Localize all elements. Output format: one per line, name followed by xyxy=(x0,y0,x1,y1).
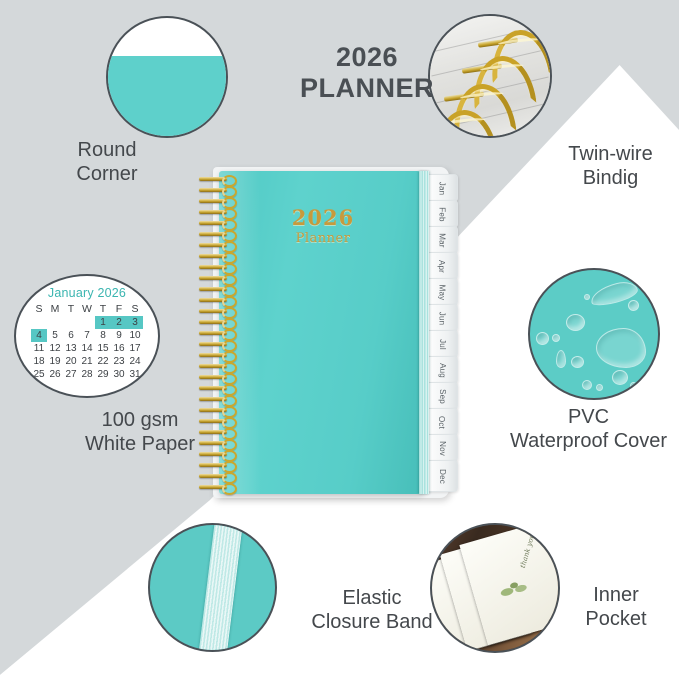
month-tab[interactable]: Mar xyxy=(427,226,458,254)
title-year: 2026 xyxy=(272,42,462,73)
month-tab[interactable]: Apr xyxy=(427,252,458,280)
month-tab-label: Mar xyxy=(437,233,446,247)
calendar-day[interactable]: 7 xyxy=(79,329,95,342)
water-droplet xyxy=(571,356,584,368)
month-tab[interactable]: Dec xyxy=(427,460,458,492)
month-tab-label: Feb xyxy=(437,207,446,221)
calendar-day[interactable]: 2 xyxy=(111,316,127,329)
spiral-coil xyxy=(199,374,235,381)
month-tab-label: Nov xyxy=(437,441,446,456)
calendar-day[interactable]: 22 xyxy=(95,355,111,368)
month-tab[interactable]: Jul xyxy=(427,330,458,358)
calendar-widget: January 2026 S M T W T F S xyxy=(16,286,158,381)
month-tab-label: Sep xyxy=(438,389,447,404)
spiral-coil xyxy=(199,341,235,348)
spiral-coil xyxy=(199,253,235,260)
spiral-coil xyxy=(199,330,235,337)
calendar-day[interactable]: 30 xyxy=(111,368,127,381)
month-tab[interactable]: Feb xyxy=(427,200,458,228)
calendar-month-title: January 2026 xyxy=(16,286,158,300)
spiral-coil xyxy=(199,319,235,326)
calendar-weekday: T xyxy=(95,303,111,316)
calendar-day[interactable]: 14 xyxy=(79,342,95,355)
month-tab-label: Oct xyxy=(437,415,446,428)
calendar-day[interactable]: 28 xyxy=(79,368,95,381)
calendar-day[interactable]: 31 xyxy=(127,368,143,381)
callout-round-corner xyxy=(106,16,228,138)
calendar-day[interactable]: 3 xyxy=(127,316,143,329)
calendar-weekday: W xyxy=(79,303,95,316)
calendar-day[interactable]: 8 xyxy=(95,329,111,342)
water-droplet xyxy=(584,294,590,300)
caption-pvc-waterproof: PVC Waterproof Cover xyxy=(498,405,679,453)
calendar-day[interactable]: 13 xyxy=(63,342,79,355)
calendar-week-row: 18 19 20 21 22 23 24 xyxy=(31,355,143,368)
spiral-coil xyxy=(199,176,235,183)
month-tab[interactable]: Aug xyxy=(427,356,458,384)
calendar-day[interactable]: 29 xyxy=(95,368,111,381)
caption-white-paper: 100 gsm White Paper xyxy=(42,408,238,456)
month-tab-label: Apr xyxy=(438,259,447,272)
calendar-day[interactable]: 11 xyxy=(31,342,47,355)
calendar-day[interactable]: 15 xyxy=(95,342,111,355)
spiral-coil xyxy=(199,231,235,238)
callout-pvc-waterproof xyxy=(528,268,660,400)
calendar-day[interactable] xyxy=(47,316,63,329)
caption-line-1: Elastic xyxy=(283,586,461,610)
calendar-day[interactable]: 27 xyxy=(63,368,79,381)
month-tab-label: Jun xyxy=(438,311,447,325)
cover-title-year: 2026 xyxy=(219,207,427,229)
caption-line-1: Twin-wire xyxy=(542,142,679,166)
caption-elastic-band: Elastic Closure Band xyxy=(283,586,461,634)
caption-line-2: White Paper xyxy=(42,432,238,456)
calendar-day[interactable]: 10 xyxy=(127,329,143,342)
calendar-day[interactable]: 16 xyxy=(111,342,127,355)
calendar-weekday: M xyxy=(47,303,63,316)
spiral-coil xyxy=(199,363,235,370)
spiral-coil xyxy=(199,209,235,216)
page-title: 2026 PLANNER xyxy=(272,42,462,104)
calendar-weekday: S xyxy=(31,303,47,316)
calendar-week-row: 1 2 3 xyxy=(31,316,143,329)
calendar-week-row: 25 26 27 28 29 30 31 xyxy=(31,368,143,381)
calendar-day[interactable] xyxy=(31,316,47,329)
month-index-tabs: Jan Feb Mar Apr May Jun Jul Aug xyxy=(428,174,458,494)
month-tab[interactable]: Jun xyxy=(427,304,458,332)
spiral-coil xyxy=(199,473,235,480)
calendar-day[interactable]: 20 xyxy=(63,355,79,368)
calendar-weekday-row: S M T W T F S xyxy=(31,303,143,316)
calendar-day[interactable] xyxy=(79,316,95,329)
planner-cover: 2026 Planner xyxy=(219,171,427,494)
spiral-coil xyxy=(199,297,235,304)
caption-line-2: Waterproof Cover xyxy=(498,429,679,453)
caption-round-corner: Round Corner xyxy=(22,138,192,186)
spiral-coil xyxy=(199,308,235,315)
spiral-coil xyxy=(199,187,235,194)
caption-line-1: Inner xyxy=(556,583,676,607)
calendar-day[interactable]: 4 xyxy=(31,329,47,342)
calendar-weekday: S xyxy=(127,303,143,316)
spiral-coil xyxy=(199,462,235,469)
calendar-day[interactable]: 18 xyxy=(31,355,47,368)
month-tab[interactable]: Oct xyxy=(427,408,458,436)
spiral-coil xyxy=(199,396,235,403)
calendar-grid: S M T W T F S 1 xyxy=(31,303,143,381)
water-droplet xyxy=(596,384,603,391)
spiral-coil xyxy=(199,242,235,249)
calendar-day[interactable] xyxy=(63,316,79,329)
calendar-day[interactable]: 23 xyxy=(111,355,127,368)
water-droplet xyxy=(536,332,549,345)
caption-line-2: Bindig xyxy=(542,166,679,190)
water-droplet xyxy=(612,370,628,385)
calendar-weekday: F xyxy=(111,303,127,316)
spiral-coil xyxy=(199,352,235,359)
spiral-coil xyxy=(199,220,235,227)
water-droplet xyxy=(556,350,566,368)
product-infographic: 2026 PLANNER Jan Feb Mar Apr May Jun xyxy=(0,0,679,675)
month-tab-label: Jan xyxy=(438,181,447,195)
caption-line-2: Corner xyxy=(22,162,192,186)
month-tab-label: Dec xyxy=(437,469,446,484)
water-droplet xyxy=(630,382,637,389)
month-tab-label: Aug xyxy=(438,363,447,378)
callout-elastic-band xyxy=(148,523,277,652)
spiral-coil xyxy=(199,264,235,271)
spiral-coil xyxy=(199,385,235,392)
caption-line-2: Pocket xyxy=(556,607,676,631)
calendar-day[interactable]: 25 xyxy=(31,368,47,381)
calendar-day[interactable]: 24 xyxy=(127,355,143,368)
caption-line-1: PVC xyxy=(498,405,679,429)
calendar-week-row: 4 5 6 7 8 9 10 xyxy=(31,329,143,342)
calendar-day[interactable]: 5 xyxy=(47,329,63,342)
caption-twin-wire: Twin-wire Bindig xyxy=(542,142,679,190)
caption-inner-pocket: Inner Pocket xyxy=(556,583,676,631)
spiral-coil xyxy=(199,198,235,205)
spiral-coil xyxy=(199,286,235,293)
caption-line-2: Closure Band xyxy=(283,610,461,634)
cover-title-word: Planner xyxy=(219,231,427,246)
elastic-band-strip xyxy=(196,523,245,652)
water-droplet xyxy=(628,300,639,311)
calendar-day[interactable]: 19 xyxy=(47,355,63,368)
month-tab[interactable]: Jan xyxy=(427,174,458,202)
month-tab-label: Jul xyxy=(437,339,446,350)
month-tab[interactable]: Nov xyxy=(427,434,458,462)
cover-title: 2026 Planner xyxy=(219,207,427,246)
caption-line-1: 100 gsm xyxy=(42,408,238,432)
month-tab[interactable]: Sep xyxy=(427,382,458,410)
cover-elastic-band xyxy=(419,171,429,494)
month-tab[interactable]: May xyxy=(427,278,458,306)
rounded-corner-swatch xyxy=(106,56,228,138)
calendar-day[interactable]: 12 xyxy=(47,342,63,355)
calendar-day[interactable]: 9 xyxy=(111,329,127,342)
month-tab-label: May xyxy=(438,284,447,300)
callout-calendar: January 2026 S M T W T F S xyxy=(14,274,160,398)
calendar-day[interactable]: 26 xyxy=(47,368,63,381)
calendar-day[interactable]: 6 xyxy=(63,329,79,342)
calendar-day[interactable]: 17 xyxy=(127,342,143,355)
title-word: PLANNER xyxy=(272,73,462,104)
calendar-week-row: 11 12 13 14 15 16 17 xyxy=(31,342,143,355)
water-droplet xyxy=(582,380,592,390)
water-droplet xyxy=(566,314,585,331)
water-droplet xyxy=(596,328,646,368)
calendar-day[interactable]: 1 xyxy=(95,316,111,329)
calendar-weekday: T xyxy=(63,303,79,316)
calendar-day[interactable]: 21 xyxy=(79,355,95,368)
spiral-coil xyxy=(199,275,235,282)
water-droplet xyxy=(552,334,560,342)
spiral-coil xyxy=(199,484,235,491)
caption-line-1: Round xyxy=(22,138,192,162)
